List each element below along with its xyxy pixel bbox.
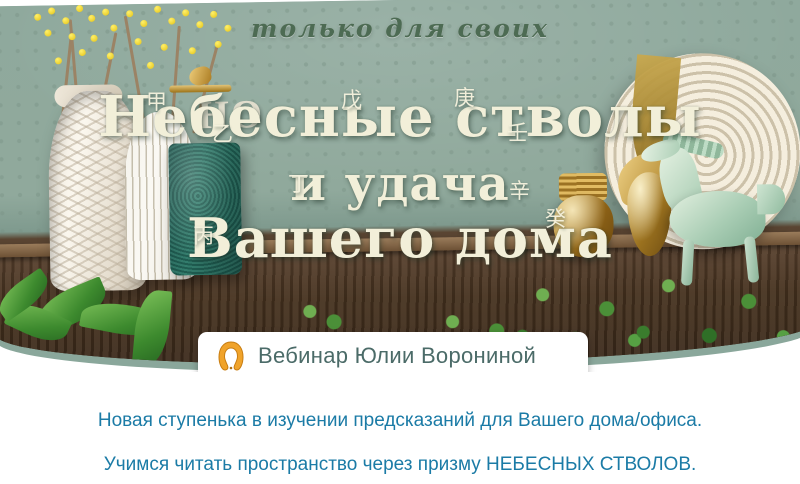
heavenly-stem-glyph: 丙: [193, 220, 214, 250]
horseshoe-icon: [214, 339, 248, 372]
subcopy-line-2: Учимся читать пространство через призму …: [0, 448, 800, 482]
hero-banner: НО: [0, 0, 800, 372]
heavenly-stem-glyph: 庚: [454, 82, 475, 112]
headline-line-2: и удача: [0, 156, 800, 212]
headline-line-1: Небесные стволы: [0, 84, 800, 150]
webinar-label: Вебинар Юлии Ворониной: [258, 343, 536, 369]
heavenly-stem-glyph: 辛: [509, 175, 530, 205]
promo-page: НО: [0, 0, 800, 484]
heavenly-stem-glyph: 丁: [288, 168, 309, 198]
headline-line-3: Вашего дома: [0, 206, 800, 270]
heavenly-stem-glyph: 壬: [507, 117, 528, 147]
heavenly-stem-glyph: 乙: [212, 118, 233, 148]
subcopy-block: Новая ступенька в изучении предсказаний …: [0, 382, 800, 482]
heavenly-stem-glyph: 戊: [341, 84, 362, 114]
boxwood-bush: [618, 255, 800, 370]
webinar-badge[interactable]: Вебинар Юлии Ворониной: [198, 332, 588, 372]
heavenly-stem-glyph: 癸: [545, 203, 566, 233]
heavenly-stem-glyph: 甲: [146, 86, 167, 116]
banner-tagline: только для своих: [0, 14, 800, 43]
subcopy-line-1: Новая ступенька в изучении предсказаний …: [0, 404, 800, 438]
